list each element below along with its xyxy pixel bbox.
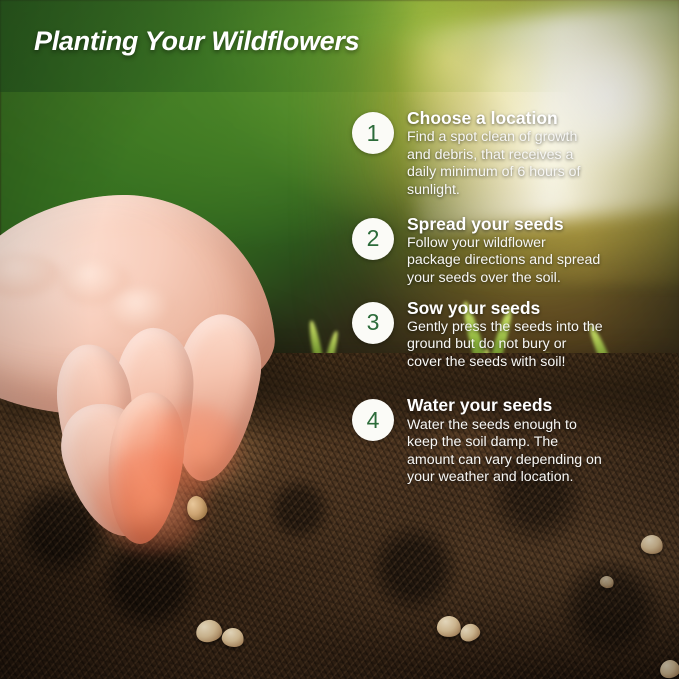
step-heading-1: Choose a location	[407, 108, 603, 128]
step-body-2: Follow your wildflower package direction…	[407, 235, 603, 288]
step-item-2: 2 Spread your seeds Follow your wildflow…	[352, 214, 652, 288]
step-text-3: Sow your seeds Gently press the seeds in…	[407, 298, 603, 372]
step-body-4: Water the seeds enough to keep the soil …	[407, 417, 603, 487]
step-text-2: Spread your seeds Follow your wildflower…	[407, 214, 603, 288]
step-text-4: Water your seeds Water the seeds enough …	[407, 395, 603, 487]
step-item-3: 3 Sow your seeds Gently press the seeds …	[352, 298, 652, 372]
step-number-4: 4	[367, 409, 380, 432]
step-number-3: 3	[367, 311, 380, 334]
infographic-poster: Planting Your Wildflowers 1 Choose a loc…	[0, 0, 679, 679]
step-number-1: 1	[367, 122, 380, 145]
step-number-badge-4: 4	[352, 399, 394, 441]
step-text-1: Choose a location Find a spot clean of g…	[407, 108, 603, 200]
step-number-2: 2	[367, 227, 380, 250]
step-heading-2: Spread your seeds	[407, 214, 603, 234]
hand-planting-seed	[0, 196, 362, 596]
step-heading-4: Water your seeds	[407, 395, 603, 415]
step-number-badge-2: 2	[352, 218, 394, 260]
page-title: Planting Your Wildflowers	[34, 26, 359, 57]
seed-on-soil	[659, 659, 679, 679]
step-body-1: Find a spot clean of growth and debris, …	[407, 129, 603, 199]
fingertip-glow	[148, 402, 244, 492]
step-item-1: 1 Choose a location Find a spot clean of…	[352, 108, 652, 200]
step-item-4: 4 Water your seeds Water the seeds enoug…	[352, 395, 652, 487]
step-heading-3: Sow your seeds	[407, 298, 603, 318]
step-number-badge-1: 1	[352, 112, 394, 154]
step-body-3: Gently press the seeds into the ground b…	[407, 319, 603, 372]
steps-list: 1 Choose a location Find a spot clean of…	[352, 108, 652, 499]
step-number-badge-3: 3	[352, 302, 394, 344]
